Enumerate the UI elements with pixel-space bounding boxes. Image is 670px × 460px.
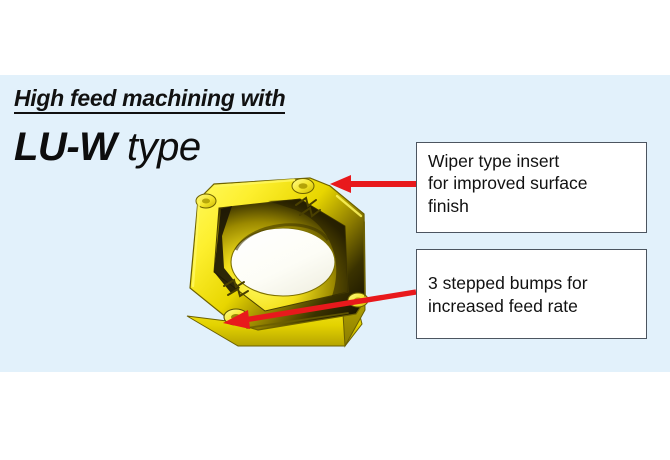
page-title: LU-W type [14, 124, 201, 170]
illustration-canvas: High feed machining with LU-W type [0, 0, 670, 460]
page-title-product: LU-W [14, 125, 116, 169]
callout-stepped-bumps-text: 3 stepped bumps for increased feed rate [428, 272, 588, 317]
callout-wiper-insert: Wiper type insert for improved surface f… [416, 142, 647, 233]
callout-stepped-bumps: 3 stepped bumps for increased feed rate [416, 249, 647, 339]
page-title-suffix: type [116, 125, 200, 169]
kicker-heading: High feed machining with [14, 86, 285, 114]
